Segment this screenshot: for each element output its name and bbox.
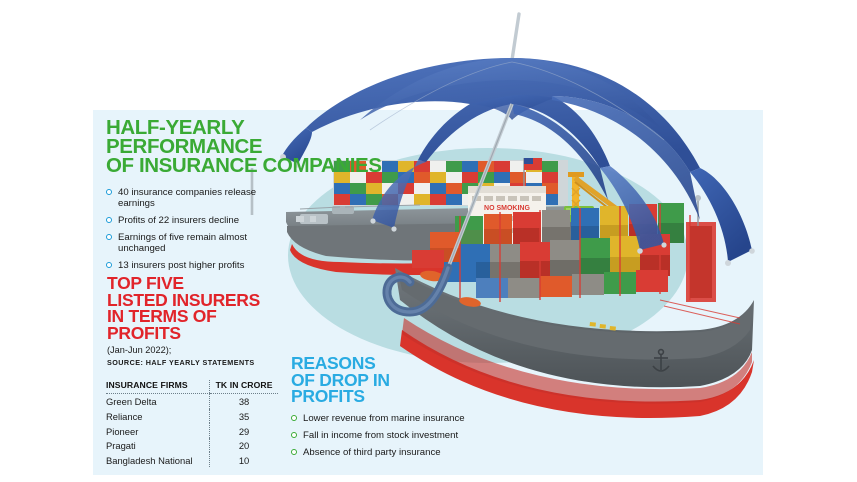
insurers-table-container: INSURANCE FIRMS TK IN CRORE Green Delta … xyxy=(106,380,278,467)
list-item: Profits of 22 insurers decline xyxy=(106,215,258,226)
insurers-table: INSURANCE FIRMS TK IN CRORE Green Delta … xyxy=(106,380,278,467)
top-five-title-line4: PROFITS xyxy=(107,323,181,343)
table-row: Reliance 35 xyxy=(106,409,278,424)
reasons-section: REASONS OF DROP IN PROFITS Lower revenue… xyxy=(291,355,521,464)
bullet-dot-icon xyxy=(106,217,112,223)
column-header-value: TK IN CRORE xyxy=(210,380,278,394)
reasons-bullet-list: Lower revenue from marine insurance Fall… xyxy=(291,413,521,458)
page-title-line2: OF INSURANCE COMPANIES xyxy=(106,154,382,177)
cell-firm: Reliance xyxy=(106,409,210,424)
page-title: HALF-YEARLY PERFORMANCE OF INSURANCE COM… xyxy=(106,118,386,175)
bullet-dot-icon xyxy=(291,415,297,421)
cell-value: 38 xyxy=(210,394,278,409)
cell-value: 10 xyxy=(210,452,278,467)
bullet-dot-icon xyxy=(291,449,297,455)
list-item: 40 insurance companies release earnings xyxy=(106,187,258,209)
table-header-row: INSURANCE FIRMS TK IN CRORE xyxy=(106,380,278,394)
bullet-dot-icon xyxy=(291,432,297,438)
list-item-label: Absence of third party insurance xyxy=(303,447,441,458)
source-label: SOURCE: HALF YEARLY STATEMENTS xyxy=(107,358,287,367)
cell-value: 20 xyxy=(210,438,278,453)
cell-firm: Bangladesh National xyxy=(106,452,210,467)
list-item: 13 insurers post higher profits xyxy=(106,260,258,271)
cell-value: 35 xyxy=(210,409,278,424)
list-item: Earnings of five remain almost unchanged xyxy=(106,232,258,254)
bullet-dot-icon xyxy=(106,262,112,268)
table-row: Green Delta 38 xyxy=(106,394,278,409)
list-item: Absence of third party insurance xyxy=(291,447,521,458)
list-item-label: Fall in income from stock investment xyxy=(303,430,458,441)
table-row: Bangladesh National 10 xyxy=(106,452,278,467)
reasons-title-line3: PROFITS xyxy=(291,386,365,406)
infographic-canvas: NO SMOKING xyxy=(0,0,857,482)
list-item-label: 13 insurers post higher profits xyxy=(118,260,244,271)
top-five-title: TOP FIVE LISTED INSURERS IN TERMS OF PRO… xyxy=(107,275,287,341)
list-item-label: Lower revenue from marine insurance xyxy=(303,413,465,424)
cell-firm: Green Delta xyxy=(106,394,210,409)
bullet-dot-icon xyxy=(106,189,112,195)
performance-bullet-list: 40 insurance companies release earnings … xyxy=(106,187,258,271)
cell-firm: Pioneer xyxy=(106,423,210,438)
column-header-firms: INSURANCE FIRMS xyxy=(106,380,210,394)
cell-value: 29 xyxy=(210,423,278,438)
table-row: Pragati 20 xyxy=(106,438,278,453)
table-row: Pioneer 29 xyxy=(106,423,278,438)
reasons-title: REASONS OF DROP IN PROFITS xyxy=(291,355,521,405)
page-title-line1: HALF-YEARLY PERFORMANCE xyxy=(106,116,262,158)
performance-section: HALF-YEARLY PERFORMANCE OF INSURANCE COM… xyxy=(106,118,386,277)
bullet-dot-icon xyxy=(106,234,112,240)
cell-firm: Pragati xyxy=(106,438,210,453)
list-item: Fall in income from stock investment xyxy=(291,430,521,441)
list-item-label: Profits of 22 insurers decline xyxy=(118,215,239,226)
list-item: Lower revenue from marine insurance xyxy=(291,413,521,424)
period-label: (Jan-Jun 2022); xyxy=(107,345,287,355)
list-item-label: 40 insurance companies release earnings xyxy=(118,187,256,209)
list-item-label: Earnings of five remain almost unchanged xyxy=(118,232,247,254)
top-five-section: TOP FIVE LISTED INSURERS IN TERMS OF PRO… xyxy=(107,275,287,367)
